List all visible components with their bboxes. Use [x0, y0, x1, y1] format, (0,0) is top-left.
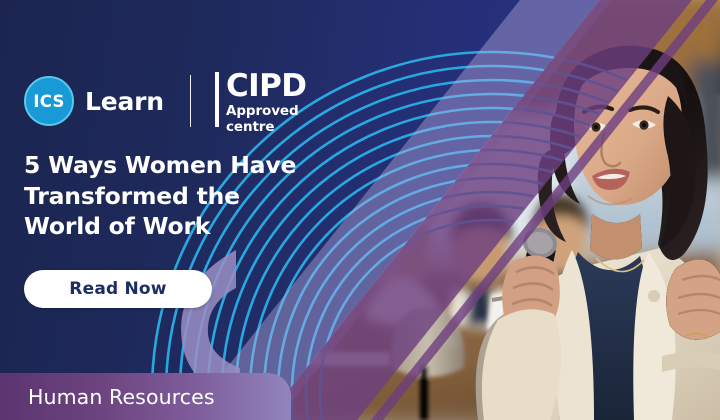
promo-banner: ICS Learn CIPD Approved centre 5 Ways Wo…	[0, 0, 720, 420]
category-badge[interactable]: Human Resources	[0, 373, 291, 420]
category-label: Human Resources	[28, 385, 215, 409]
footer-layer: Human Resources	[0, 0, 720, 420]
